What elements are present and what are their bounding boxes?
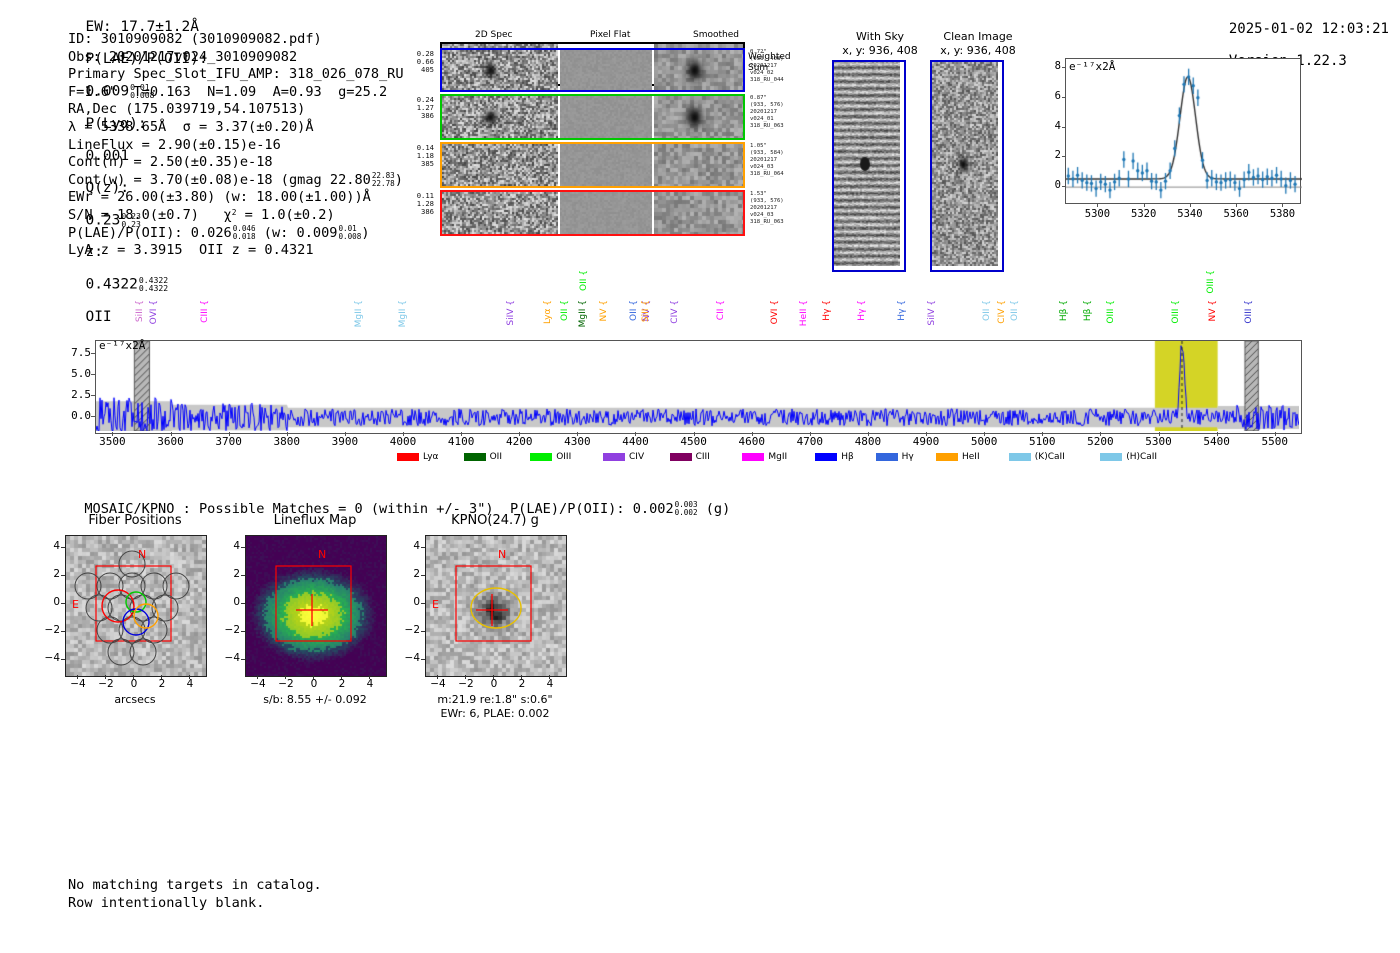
- legend-swatch: [1009, 453, 1031, 461]
- spectrum-xtickmark: [810, 432, 811, 436]
- spectrum-line-label-24: OII {: [1010, 300, 1020, 321]
- spec2d-meta-2: 20201217: [750, 157, 820, 164]
- full-spectrum-axes: [95, 340, 1302, 434]
- minipanel-2-xtickmark: [437, 675, 438, 679]
- legend-label: CIII: [696, 452, 710, 462]
- minipanel-overlay-2: NE: [426, 536, 566, 676]
- info-redshifts: LyA z = 3.3915 OII z = 0.4321: [68, 242, 404, 260]
- spectrum-line-label-18: Hγ {: [822, 300, 832, 321]
- spectrum-xtick: 3800: [274, 435, 301, 448]
- spec2d-meta-3: v024_03: [750, 212, 820, 219]
- spec2d-exposure-2-pixelflat: [560, 96, 652, 138]
- minipanel-xlabel-2: m:21.9 re:1.8" s:0.6"EWr: 6, PLAE: 0.002: [390, 693, 600, 721]
- legend-item-OIII: OIII: [530, 452, 571, 462]
- minipanel-0-ytickmark: [61, 631, 65, 632]
- spec2d-exposure-2-2dspec: [442, 96, 558, 138]
- info-plae-bounds: 0.0460.018: [233, 225, 256, 241]
- line-profile-axes: [1065, 58, 1301, 204]
- spec2d-meta-0: 1.53": [750, 191, 820, 198]
- svg-text:E: E: [72, 598, 79, 611]
- legend-swatch: [603, 453, 625, 461]
- spectrum-line-label-20: Hγ {: [897, 300, 907, 321]
- legend-item-MgII: MgII: [742, 452, 787, 462]
- lineprofile-xtickmark: [1190, 204, 1191, 207]
- lineprofile-ytickmark: [1062, 156, 1065, 157]
- legend-item-HeII: HeII: [936, 452, 980, 462]
- spectrum-line-label-1: OVI {: [149, 300, 159, 324]
- spec2d-meta-2: 20201217: [750, 205, 820, 212]
- legend-item-Hγ: Hγ: [876, 452, 914, 462]
- minipanel-2-xtick: 2: [514, 678, 530, 690]
- legend-label: Hβ: [841, 452, 854, 462]
- spectrum-ytickmark: [91, 353, 95, 354]
- minipanel-1-xtick: 0: [306, 678, 322, 690]
- spectrum-ytickmark: [91, 416, 95, 417]
- spectrum-line-label-17: HeII {: [799, 300, 809, 326]
- minipanel-1-ytickmark: [241, 575, 245, 576]
- legend-swatch: [1100, 453, 1122, 461]
- info-ewr: EWr = 26.00(±3.80) (w: 18.00(±1.00))Å: [68, 189, 404, 207]
- minipanel-xlabel-line1: arcsecs: [30, 693, 240, 707]
- minipanel-0-xtick: 4: [182, 678, 198, 690]
- info-cont-w: Cont(w) = 3.70(±0.08)e-18 (gmag 22.8022.…: [68, 172, 404, 190]
- lineprofile-ytick: 4: [1049, 120, 1061, 132]
- minipanel-title-1: Lineflux Map: [225, 513, 405, 528]
- minipanel-0-ytick: −2: [43, 624, 60, 636]
- legend-label: Lyα: [423, 452, 438, 462]
- lineprofile-xtick: 5380: [1270, 208, 1295, 220]
- minipanel-2-xtick: −2: [458, 678, 474, 690]
- header-z-type: OII: [85, 309, 111, 325]
- line-profile-flux-units: e⁻¹⁷x2Å: [1069, 60, 1115, 73]
- spectrum-xtickmark: [287, 432, 288, 436]
- minipanel-image-0[interactable]: NE: [65, 535, 207, 677]
- spec2d-meta-0: 0.72": [750, 49, 820, 56]
- minipanel-1-ytickmark: [241, 547, 245, 548]
- info-primary: Primary Spec_Slot_IFU_AMP: 318_026_078_R…: [68, 66, 404, 84]
- minipanel-2-xtick: 4: [542, 678, 558, 690]
- minipanel-0-xtick: −2: [98, 678, 114, 690]
- minipanel-title-0: Fiber Positions: [45, 513, 225, 528]
- spectrum-line-label-31: OIII {: [1244, 300, 1254, 324]
- spectrum-xtickmark: [112, 432, 113, 436]
- legend-label: CIV: [629, 452, 644, 462]
- spectrum-xtick: 4100: [448, 435, 475, 448]
- minipanel-1-xtick: 4: [362, 678, 378, 690]
- info-plae: P(LAE)/P(OII): 0.0260.0460.018 (w: 0.009…: [68, 225, 404, 243]
- spectrum-line-label-9: OII {: [579, 270, 589, 291]
- minipanel-1-xtickmark: [285, 675, 286, 679]
- spec2d-meta-1: (933, 584): [750, 150, 820, 157]
- spectrum-xtickmark: [926, 432, 927, 436]
- minipanel-0-ytickmark: [61, 575, 65, 576]
- minipanel-1-ytick: −4: [223, 652, 240, 664]
- info-obs: Obs: 20201217v024_3010909082: [68, 49, 404, 67]
- spectrum-xtickmark: [229, 432, 230, 436]
- spectrum-line-label-2: CIII {: [200, 300, 210, 323]
- spectrum-line-label-0: SiII {: [135, 300, 145, 322]
- spectrum-xtickmark: [1100, 432, 1101, 436]
- spec2d-exposure-2-meta: 0.87"(933, 576)20201217v024_01318_RU_063: [750, 95, 820, 130]
- cutouts-panel: With Sky x, y: 936, 408 Clean Image x, y…: [820, 30, 1020, 260]
- minipanel-1-ytick: 4: [223, 540, 240, 552]
- minipanel-0-xtick: 2: [154, 678, 170, 690]
- footer-line-1: No matching targets in catalog.: [68, 876, 322, 894]
- mosaic-band: (g): [698, 501, 731, 517]
- svg-text:N: N: [138, 548, 146, 561]
- lineprofile-xtickmark: [1282, 204, 1283, 207]
- svg-text:N: N: [318, 548, 326, 561]
- spec2d-stat-2: 386: [398, 112, 434, 120]
- minipanel-title-2: KPNO(24.7) g: [405, 513, 585, 528]
- spectrum-line-label-13: SiII {: [641, 300, 651, 322]
- spec2d-meta-4: 318_RU_063: [750, 219, 820, 226]
- col-title-smoothed: Smoothed: [693, 30, 739, 40]
- minipanel-1-xtickmark: [341, 675, 342, 679]
- spectrum-xtick: 4500: [680, 435, 707, 448]
- spec2d-exposure-4-smoothed: [654, 192, 743, 234]
- spec2d-meta-3: v024_01: [750, 116, 820, 123]
- spectrum-xtick: 4200: [506, 435, 533, 448]
- spectrum-ytick: 2.5: [59, 388, 91, 401]
- spec2d-exposure-1-2dspec: [442, 50, 558, 90]
- cutout-image-clean[interactable]: [930, 60, 1004, 272]
- spectrum-xtickmark: [635, 432, 636, 436]
- minipanel-0-ytickmark: [61, 659, 65, 660]
- minipanel-0-xtickmark: [189, 675, 190, 679]
- source-info-block: ID: 3010909082 (3010909082.pdf) Obs: 202…: [68, 31, 404, 260]
- spectrum-xtick: 3700: [215, 435, 242, 448]
- spectrum-line-label-16: OVI {: [770, 300, 780, 324]
- spec2d-meta-0: 0.87": [750, 95, 820, 102]
- lineprofile-xtickmark: [1236, 204, 1237, 207]
- spectrum-xtick: 5100: [1029, 435, 1056, 448]
- spectrum-xtick: 3500: [99, 435, 126, 448]
- minipanel-2-ytickmark: [421, 603, 425, 604]
- legend-label: MgII: [768, 452, 787, 462]
- spectrum-xtickmark: [1275, 432, 1276, 436]
- minipanel-0-ytick: 4: [43, 540, 60, 552]
- spec2d-exposure-3-stats: 0.141.18385: [398, 144, 434, 168]
- spectrum-xtickmark: [519, 432, 520, 436]
- minipanel-2-ytickmark: [421, 631, 425, 632]
- minipanel-1-ytick: 0: [223, 596, 240, 608]
- spectrum-xtickmark: [1042, 432, 1043, 436]
- spectrum-line-label-21: SiIV {: [927, 300, 937, 326]
- spectrum-xtick: 5500: [1262, 435, 1289, 448]
- minipanel-1-xtick: −4: [250, 678, 266, 690]
- spec2d-meta-3: v024_02: [750, 70, 820, 77]
- spectrum-line-label-28: OIII {: [1171, 300, 1181, 324]
- info-radec: RA,Dec (175.039719,54.107513): [68, 101, 404, 119]
- lineprofile-xtick: 5360: [1224, 208, 1249, 220]
- spectrum-line-label-6: Lyα {: [543, 300, 553, 324]
- header-datetime: 2025-01-02 12:03:21: [1229, 21, 1389, 37]
- spec2d-row-exposure-3[interactable]: [440, 142, 745, 188]
- legend-item-Hβ: Hβ: [815, 452, 854, 462]
- spectrum-xtick: 3900: [332, 435, 359, 448]
- legend-item-OII: OII: [464, 452, 502, 462]
- minipanel-2-ytickmark: [421, 547, 425, 548]
- minipanel-xlabel-line1: s/b: 8.55 +/- 0.092: [210, 693, 420, 707]
- footer-note: No matching targets in catalog. Row inte…: [68, 876, 322, 912]
- minipanel-2-xtickmark: [549, 675, 550, 679]
- spec2d-meta-0: 1.05": [750, 143, 820, 150]
- spec2d-exposure-2-smoothed: [654, 96, 743, 138]
- spectrum-xtick: 4700: [797, 435, 824, 448]
- minipanel-1-xtickmark: [257, 675, 258, 679]
- spec2d-stat-2: 385: [398, 160, 434, 168]
- spectrum-line-label-26: Hβ {: [1083, 300, 1093, 321]
- spectrum-xtickmark: [752, 432, 753, 436]
- minipanel-0-ytickmark: [61, 547, 65, 548]
- spec2d-exposure-1-smoothed: [654, 50, 743, 90]
- legend-label: OII: [490, 452, 502, 462]
- minipanel-0-xtickmark: [133, 675, 134, 679]
- info-id: ID: 3010909082 (3010909082.pdf): [68, 31, 404, 49]
- legend-label: (H)CaII: [1126, 452, 1157, 462]
- spectrum-xtick: 3600: [157, 435, 184, 448]
- minipanel-0-ytickmark: [61, 603, 65, 604]
- minipanel-0-xtick: 0: [126, 678, 142, 690]
- lineprofile-ytick: 8: [1049, 60, 1061, 72]
- col-title-pixel-flat: Pixel Flat: [590, 30, 630, 40]
- lineprofile-ytickmark: [1062, 127, 1065, 128]
- minipanel-2-ytick: −4: [403, 652, 420, 664]
- minipanel-overlay-0: NE: [66, 536, 206, 676]
- info-lambda: λ = 5338.65Å σ = 3.37(±0.20)Å: [68, 119, 404, 137]
- minipanel-0-xtickmark: [161, 675, 162, 679]
- spectrum-ytick: 7.5: [59, 346, 91, 359]
- minipanel-1-xtick: −2: [278, 678, 294, 690]
- cutout-coords-clean: x, y: 936, 408: [918, 44, 1038, 57]
- spec2d-exposure-1-pixelflat: [560, 50, 652, 90]
- svg-text:E: E: [432, 598, 439, 611]
- spectrum-line-label-14: CIV {: [670, 300, 680, 324]
- minipanel-2-xtickmark: [521, 675, 522, 679]
- legend-item-CIII: CIII: [670, 452, 710, 462]
- spec2d-stat-2: 405: [398, 66, 434, 74]
- spectrum-legend: LyαOIIOIIICIVCIIIMgIIHβHγHeII(K)CaII(H)C…: [95, 452, 1300, 468]
- spectrum-xtickmark: [577, 432, 578, 436]
- spectrum-line-label-7: OII {: [560, 300, 570, 321]
- full-spectrum-chart: e⁻¹⁷x2Å 35003600370038003900400041004200…: [95, 340, 1300, 432]
- lineprofile-ytickmark: [1062, 186, 1065, 187]
- legend-swatch: [815, 453, 837, 461]
- minipanel-2-ytickmark: [421, 575, 425, 576]
- spectrum-xtickmark: [694, 432, 695, 436]
- lineprofile-xtickmark: [1144, 204, 1145, 207]
- minipanel-xlabel-line1: m:21.9 re:1.8" s:0.6": [390, 693, 600, 707]
- spec2d-row-exposure-2[interactable]: [440, 94, 745, 140]
- minipanel-xlabel-1: s/b: 8.55 +/- 0.092: [210, 693, 420, 707]
- spectrum-ytick: 5.0: [59, 367, 91, 380]
- spec2d-exposure-1-stats: 0.280.66405: [398, 50, 434, 74]
- spectrum-line-label-10: NV {: [599, 300, 609, 321]
- legend-label: (K)CaII: [1035, 452, 1065, 462]
- legend-swatch: [670, 453, 692, 461]
- minipanel-image-2[interactable]: NE: [425, 535, 567, 677]
- spectrum-xtickmark: [1217, 432, 1218, 436]
- spec2d-meta-4: 318_RU_064: [750, 171, 820, 178]
- legend-swatch: [464, 453, 486, 461]
- minipanel-1-ytickmark: [241, 631, 245, 632]
- spectrum-line-label-25: Hβ {: [1059, 300, 1069, 321]
- spectrum-line-label-22: OII {: [982, 300, 992, 321]
- spectrum-line-label-29: OIII {: [1206, 270, 1216, 294]
- minipanel-0-xtickmark: [77, 675, 78, 679]
- info-seeing: F=1.6" T=0.163 N=1.09 A=0.93 g=25.2: [68, 84, 404, 102]
- minipanel-2-ytick: 0: [403, 596, 420, 608]
- lineprofile-xtick: 5300: [1085, 208, 1110, 220]
- legend-label: HeII: [962, 452, 980, 462]
- spectrum-line-label-5: SiIV {: [506, 300, 516, 326]
- spec2d-exposure-1-meta: 0.72"(936, 408)20201217v024_02318_RU_044: [750, 49, 820, 84]
- spec2d-meta-4: 318_RU_063: [750, 123, 820, 130]
- mosaic-plae-bounds: 0.0030.002: [675, 501, 698, 517]
- minipanel-1-ytickmark: [241, 659, 245, 660]
- minipanel-xlabel-0: arcsecs: [30, 693, 240, 707]
- info-lineflux: LineFlux = 2.90(±0.15)e-16: [68, 137, 404, 155]
- spectrum-line-label-12: OII {: [629, 300, 639, 321]
- legend-swatch: [876, 453, 898, 461]
- lineprofile-xtickmark: [1097, 204, 1098, 207]
- legend-swatch: [742, 453, 764, 461]
- minipanel-0-ytick: 0: [43, 596, 60, 608]
- minipanel-0-xtick: −4: [70, 678, 86, 690]
- minipanel-2-ytickmark: [421, 659, 425, 660]
- spectrum-line-label-4: MgII {: [398, 300, 408, 327]
- legend-item-(K)CaII: (K)CaII: [1009, 452, 1065, 462]
- minipanel-2-xtickmark: [493, 675, 494, 679]
- spectrum-xtickmark: [171, 432, 172, 436]
- lineprofile-ytick: 6: [1049, 90, 1061, 102]
- emission-line-profile-chart: e⁻¹⁷x2Å 5300532053405360538002468: [1035, 52, 1301, 230]
- spec2d-exposure-4-stats: 0.111.28386: [398, 192, 434, 216]
- minipanel-image-1[interactable]: N: [245, 535, 387, 677]
- spectrum-line-label-27: OIII {: [1106, 300, 1116, 324]
- spectrum-line-label-19: Hγ {: [857, 300, 867, 321]
- minipanel-2-xtick: −4: [430, 678, 446, 690]
- spectrum-xtickmark: [461, 432, 462, 436]
- lineprofile-xtick: 5320: [1131, 208, 1156, 220]
- spec2d-exposure-4-pixelflat: [560, 192, 652, 234]
- lineprofile-ytickmark: [1062, 97, 1065, 98]
- spectrum-line-label-3: MgII {: [354, 300, 364, 327]
- spec2d-meta-2: 20201217: [750, 63, 820, 70]
- legend-item-(H)CaII: (H)CaII: [1100, 452, 1157, 462]
- minipanel-0-ytick: 2: [43, 568, 60, 580]
- spectrum-xtick: 5000: [971, 435, 998, 448]
- spec2d-exposure-3-smoothed: [654, 144, 743, 186]
- cutout-mini-panels-row: Fiber PositionsNE−4−2024420−2−4arcsecsLi…: [0, 505, 650, 735]
- spec2d-exposure-3-pixelflat: [560, 144, 652, 186]
- spectrum-ytickmark: [91, 374, 95, 375]
- spectrum-line-label-23: CIV {: [997, 300, 1007, 324]
- minipanel-1-xtickmark: [313, 675, 314, 679]
- spectrum-ytick: 0.0: [59, 409, 91, 422]
- minipanel-2-ytick: 2: [403, 568, 420, 580]
- legend-label: OIII: [556, 452, 571, 462]
- minipanel-2-ytick: −2: [403, 624, 420, 636]
- minipanel-1-ytickmark: [241, 603, 245, 604]
- info-plae-w-bounds: 0.010.008: [338, 225, 361, 241]
- spectrum-xtick: 4300: [564, 435, 591, 448]
- minipanel-1-ytick: −2: [223, 624, 240, 636]
- spectrum-xtick: 5300: [1145, 435, 1172, 448]
- spectrum-ytickmark: [91, 395, 95, 396]
- two-d-spectra-panel: 2D Spec Pixel Flat Smoothed WeightedSum …: [400, 30, 820, 260]
- spec2d-meta-3: v024_03: [750, 164, 820, 171]
- info-snr: S/N = 18.0(±0.7) χ2 = 1.0(±0.2): [68, 207, 404, 225]
- spectrum-xtick: 4800: [855, 435, 882, 448]
- spectrum-flux-units: e⁻¹⁷x2Å: [99, 339, 145, 352]
- minipanel-xlabel-line2: EWr: 6, PLAE: 0.002: [390, 707, 600, 721]
- spec2d-exposure-4-meta: 1.53"(933, 576)20201217v024_03318_RU_063: [750, 191, 820, 226]
- info-cont-n: Cont(n) = 2.50(±0.35)e-18: [68, 154, 404, 172]
- header-z-bounds: 0.43220.4322: [139, 276, 168, 293]
- cutout-title-clean: Clean Image: [918, 30, 1038, 43]
- spectrum-line-label-15: CII {: [716, 300, 726, 320]
- spec2d-meta-2: 20201217: [750, 109, 820, 116]
- spec2d-exposure-4-2dspec: [442, 192, 558, 234]
- spectrum-xtickmark: [403, 432, 404, 436]
- minipanel-2-xtickmark: [465, 675, 466, 679]
- minipanel-2-ytick: 4: [403, 540, 420, 552]
- spec2d-meta-1: (933, 576): [750, 102, 820, 109]
- spectrum-xtick: 4900: [913, 435, 940, 448]
- spectrum-xtick: 5400: [1203, 435, 1230, 448]
- footer-line-2: Row intentionally blank.: [68, 894, 322, 912]
- legend-swatch: [530, 453, 552, 461]
- minipanel-1-xtickmark: [369, 675, 370, 679]
- minipanel-1-ytick: 2: [223, 568, 240, 580]
- lineprofile-ytick: 2: [1049, 149, 1061, 161]
- spectrum-line-label-30: NV {: [1208, 300, 1218, 321]
- spec2d-meta-1: (933, 576): [750, 198, 820, 205]
- spec2d-row-exposure-4[interactable]: [440, 190, 745, 236]
- lineprofile-ytickmark: [1062, 67, 1065, 68]
- spectrum-xtickmark: [984, 432, 985, 436]
- spectrum-xtickmark: [1159, 432, 1160, 436]
- minipanel-0-xtickmark: [105, 675, 106, 679]
- svg-text:N: N: [498, 548, 506, 561]
- minipanel-1-xtick: 2: [334, 678, 350, 690]
- spec2d-exposure-2-stats: 0.241.27386: [398, 96, 434, 120]
- legend-item-CIV: CIV: [603, 452, 644, 462]
- legend-item-Lyα: Lyα: [397, 452, 438, 462]
- col-title-2d-spec: 2D Spec: [475, 30, 512, 40]
- header-z-value: 0.4322: [85, 276, 137, 292]
- spec2d-row-exposure-1[interactable]: [440, 48, 745, 92]
- spectrum-line-label-8: MgII {: [578, 300, 588, 327]
- lineprofile-xtick: 5340: [1177, 208, 1202, 220]
- spectrum-xtick: 4000: [390, 435, 417, 448]
- spec2d-exposure-3-meta: 1.05"(933, 584)20201217v024_03318_RU_064: [750, 143, 820, 178]
- minipanel-0-ytick: −4: [43, 652, 60, 664]
- spectrum-xtick: 4600: [738, 435, 765, 448]
- spec2d-stat-2: 386: [398, 208, 434, 216]
- spectrum-xtickmark: [345, 432, 346, 436]
- spectrum-xtick: 5200: [1087, 435, 1114, 448]
- legend-swatch: [397, 453, 419, 461]
- minipanel-2-xtick: 0: [486, 678, 502, 690]
- spectrum-xtick: 4400: [622, 435, 649, 448]
- spec2d-meta-4: 318_RU_044: [750, 77, 820, 84]
- info-gmag-bounds: 22.8322.78: [372, 172, 395, 188]
- legend-label: Hγ: [902, 452, 914, 462]
- cutout-image-with-sky[interactable]: [832, 60, 906, 272]
